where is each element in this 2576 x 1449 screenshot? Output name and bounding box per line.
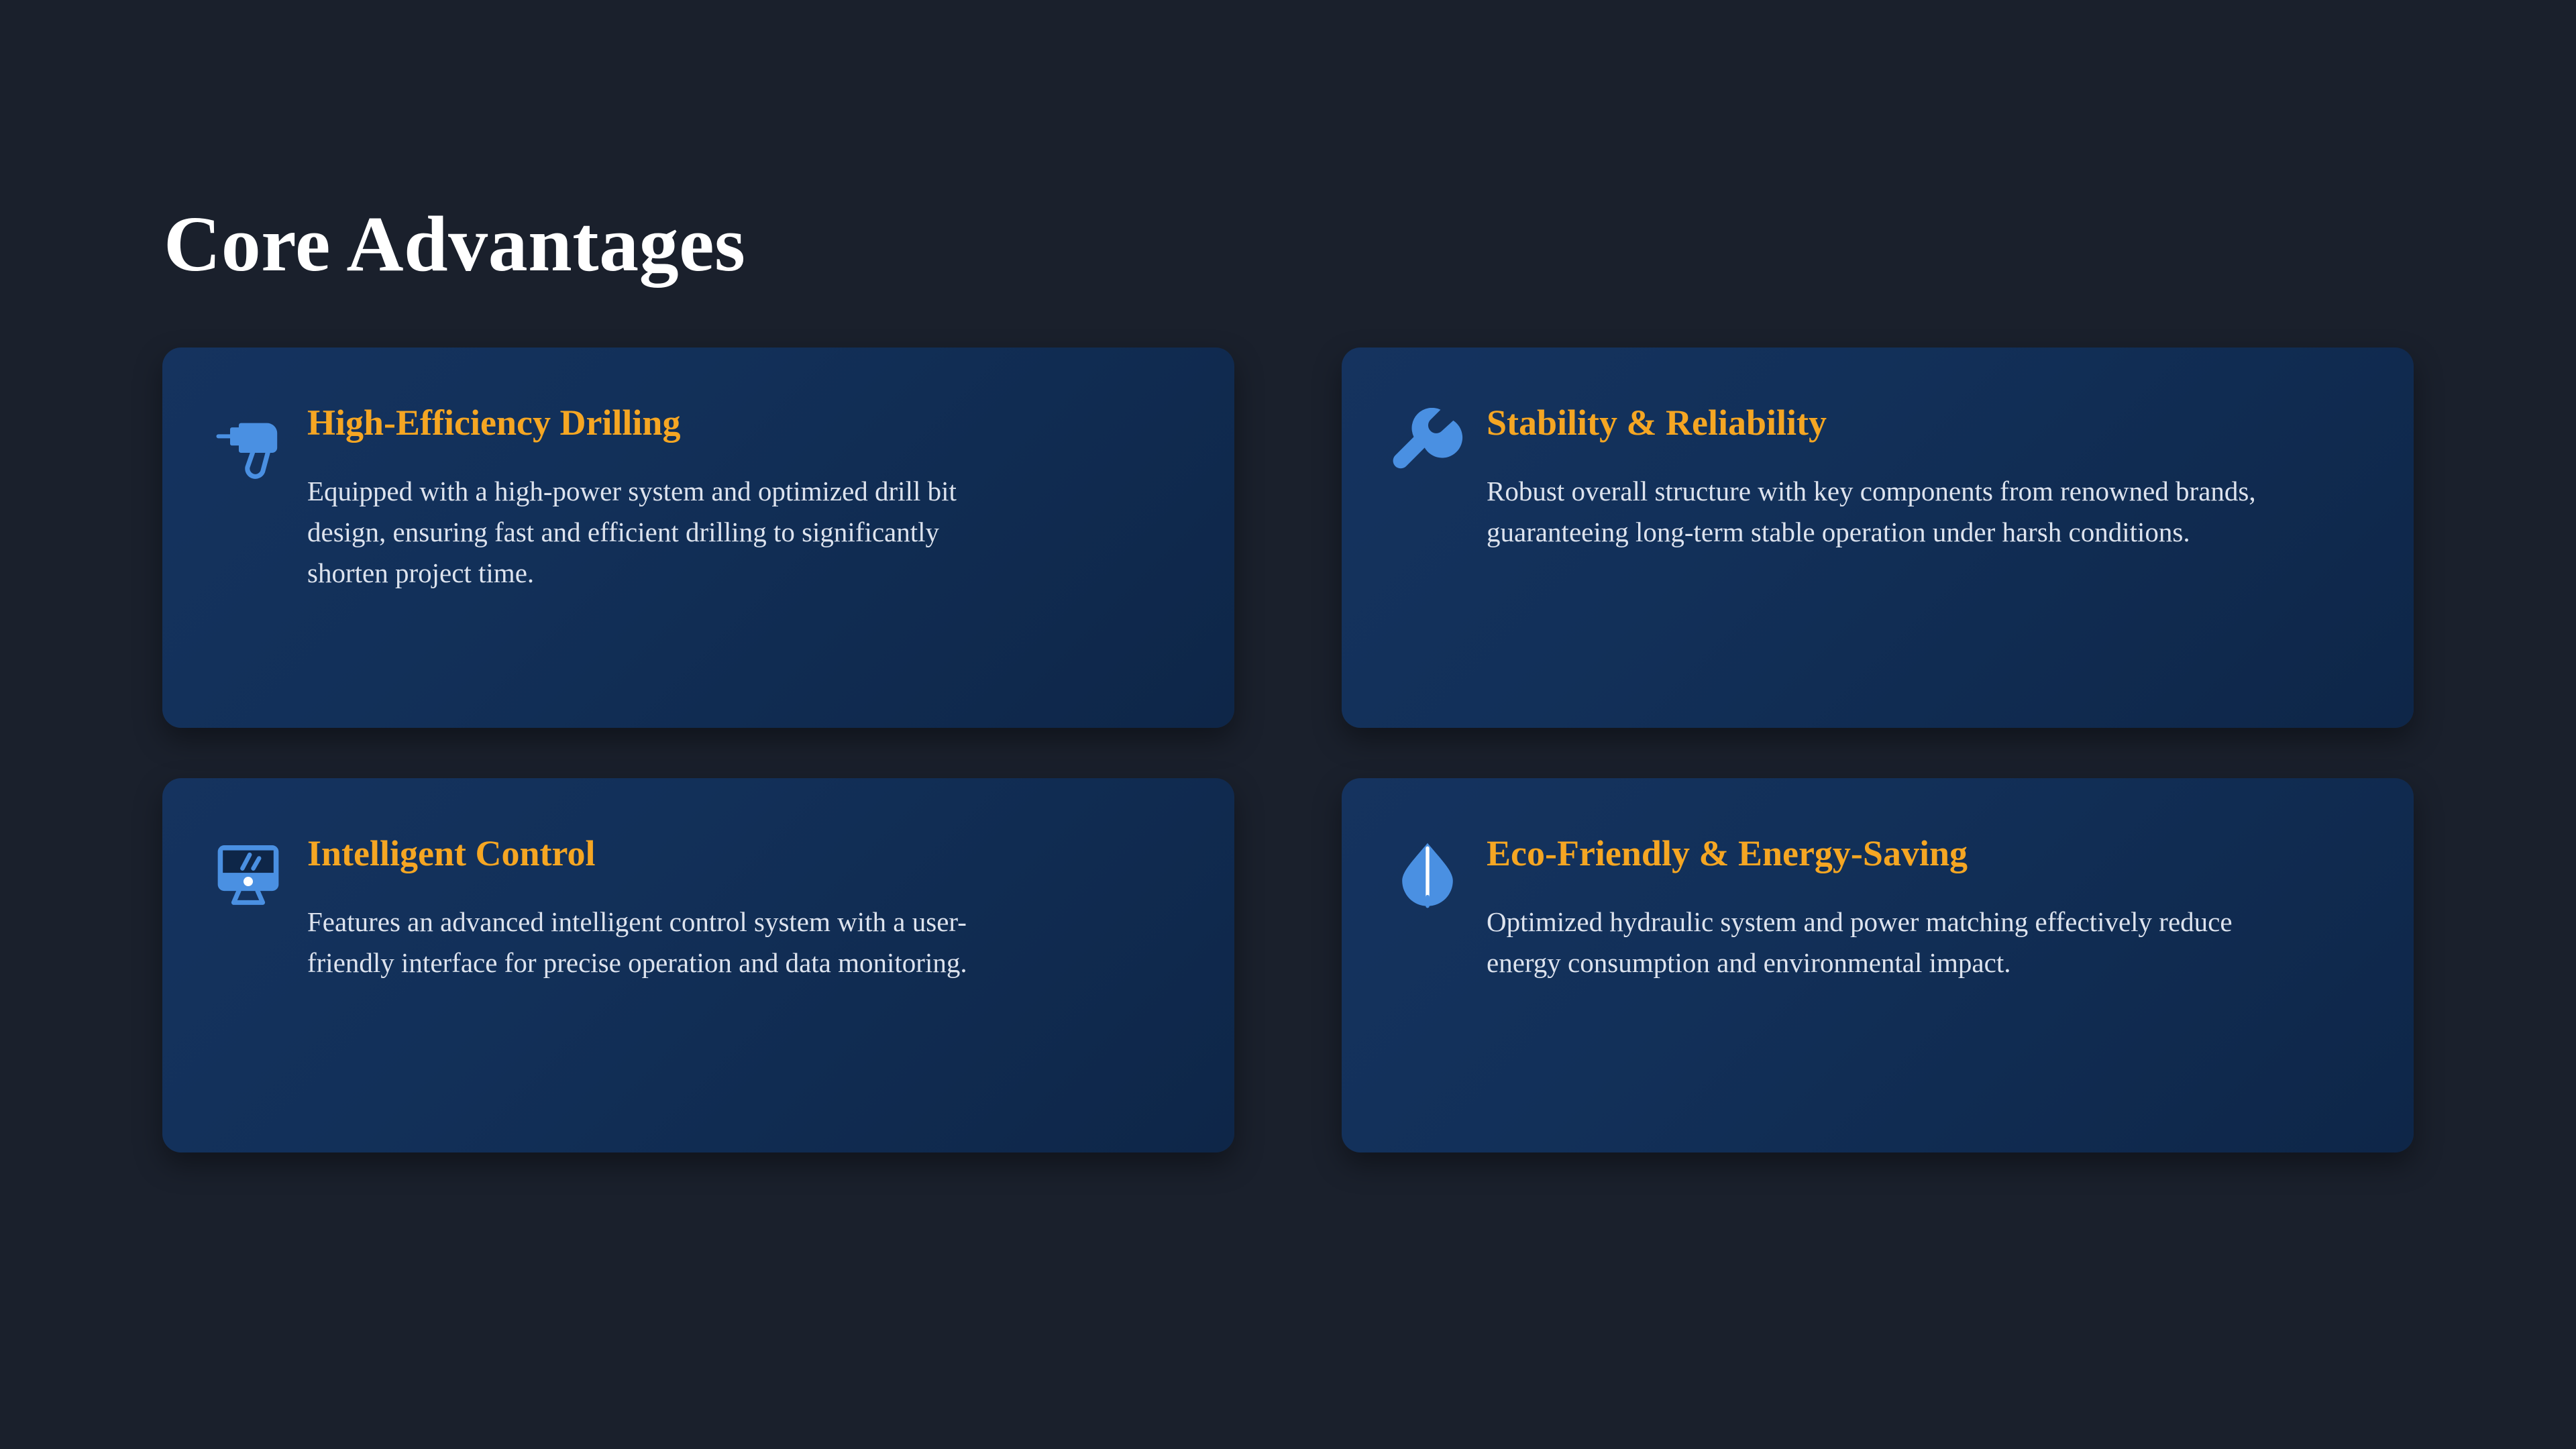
advantage-card-stability-reliability[interactable]: Stability & Reliability Robust overall s…	[1342, 347, 2414, 728]
card-body: Stability & Reliability Robust overall s…	[1487, 400, 2360, 553]
card-body: Intelligent Control Features an advanced…	[307, 830, 1181, 983]
drill-icon	[208, 404, 288, 484]
monitor-icon	[208, 832, 288, 912]
advantage-card-intelligent-control[interactable]: Intelligent Control Features an advanced…	[162, 778, 1234, 1152]
card-title: Intelligent Control	[307, 833, 1181, 873]
card-description: Optimized hydraulic system and power mat…	[1487, 902, 2251, 983]
advantage-card-eco-friendly-energy-saving[interactable]: Eco-Friendly & Energy-Saving Optimized h…	[1342, 778, 2414, 1152]
wrench-icon	[1387, 404, 1468, 484]
card-description: Features an advanced intelligent control…	[307, 902, 1018, 983]
leaf-icon	[1387, 832, 1468, 912]
card-description: Robust overall structure with key compon…	[1487, 471, 2278, 552]
card-body: Eco-Friendly & Energy-Saving Optimized h…	[1487, 830, 2360, 983]
advantages-card-grid: High-Efficiency Drilling Equipped with a…	[162, 347, 2414, 1152]
card-title: Stability & Reliability	[1487, 402, 2360, 443]
page-title: Core Advantages	[164, 201, 745, 288]
slide-root: Core Advantages High-Efficiency Drilling…	[0, 0, 2576, 1449]
advantage-card-high-efficiency-drilling[interactable]: High-Efficiency Drilling Equipped with a…	[162, 347, 1234, 728]
card-title: Eco-Friendly & Energy-Saving	[1487, 833, 2360, 873]
card-body: High-Efficiency Drilling Equipped with a…	[307, 400, 1181, 593]
card-description: Equipped with a high-power system and op…	[307, 471, 991, 593]
card-title: High-Efficiency Drilling	[307, 402, 1181, 443]
